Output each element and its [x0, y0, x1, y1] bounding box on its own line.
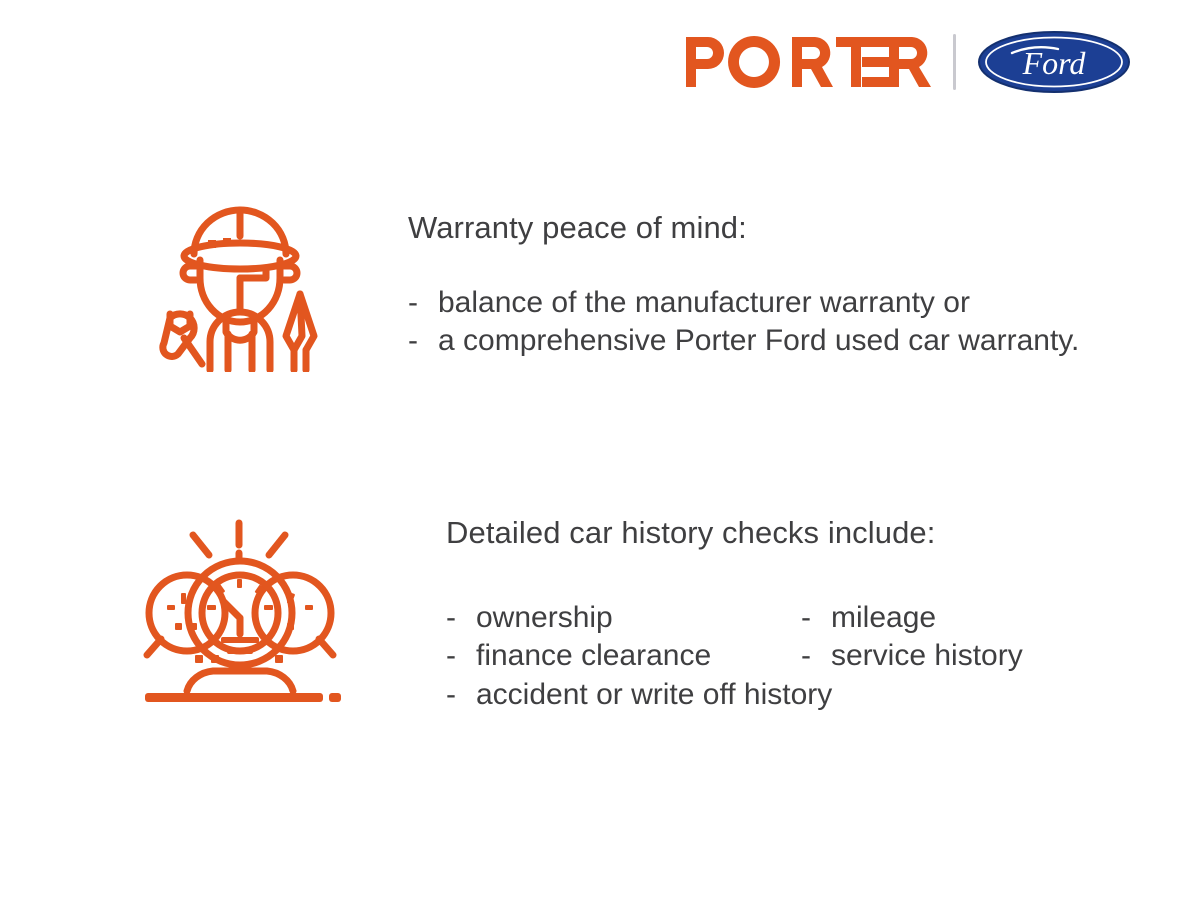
history-bullet-item: - accident or write off history — [446, 676, 801, 714]
bullet-dash-icon: - — [801, 637, 831, 675]
history-bullet-row: - ownership - mileage — [446, 599, 1023, 637]
bullet-dash-icon: - — [446, 676, 476, 714]
history-block: Detailed car history checks include: - o… — [135, 505, 1023, 714]
porter-wordmark-icon — [686, 36, 931, 88]
bullet-dash-icon: - — [446, 599, 476, 637]
porter-logo[interactable] — [686, 36, 931, 88]
brand-divider-icon — [953, 34, 956, 90]
warranty-bullet-list: - balance of the manufacturer warranty o… — [408, 284, 1079, 361]
mechanic-icon — [150, 182, 330, 372]
bullet-dash-icon: - — [801, 599, 831, 637]
warranty-bullet-text: a comprehensive Porter Ford used car war… — [438, 322, 1079, 360]
history-bullet-row: - finance clearance - service history — [446, 637, 1023, 675]
bullet-dash-icon: - — [408, 284, 438, 322]
history-bullet-item: - mileage — [801, 599, 936, 637]
history-bullet-item: - service history — [801, 637, 1023, 675]
warranty-body: Warranty peace of mind: - balance of the… — [408, 182, 1079, 361]
bullet-dash-icon: - — [408, 322, 438, 360]
history-body: Detailed car history checks include: - o… — [446, 505, 1023, 714]
history-bullet-item: - finance clearance — [446, 637, 801, 675]
warranty-bullet-text: balance of the manufacturer warranty or — [438, 284, 970, 322]
warranty-heading: Warranty peace of mind: — [408, 210, 1079, 246]
warranty-bullet-item: - balance of the manufacturer warranty o… — [408, 284, 1079, 322]
history-bullet-text: finance clearance — [476, 637, 711, 675]
history-bullet-text: ownership — [476, 599, 613, 637]
history-bullet-text: accident or write off history — [476, 676, 832, 714]
history-bullet-list: - ownership - mileage - finance clearanc… — [446, 599, 1023, 714]
history-bullet-text: service history — [831, 637, 1023, 675]
warranty-block: Warranty peace of mind: - balance of the… — [150, 182, 1079, 372]
ford-logo[interactable]: Ford — [978, 31, 1130, 93]
warranty-bullet-item: - a comprehensive Porter Ford used car w… — [408, 322, 1079, 360]
history-bullet-row: - accident or write off history — [446, 676, 1023, 714]
bullet-dash-icon: - — [446, 637, 476, 675]
ford-wordmark-text: Ford — [1022, 45, 1087, 81]
history-heading: Detailed car history checks include: — [446, 515, 1023, 551]
history-bullet-text: mileage — [831, 599, 936, 637]
dashboard-gauges-icon — [135, 505, 350, 705]
history-bullet-item: - ownership — [446, 599, 801, 637]
brand-bar: Ford — [686, 28, 1130, 96]
